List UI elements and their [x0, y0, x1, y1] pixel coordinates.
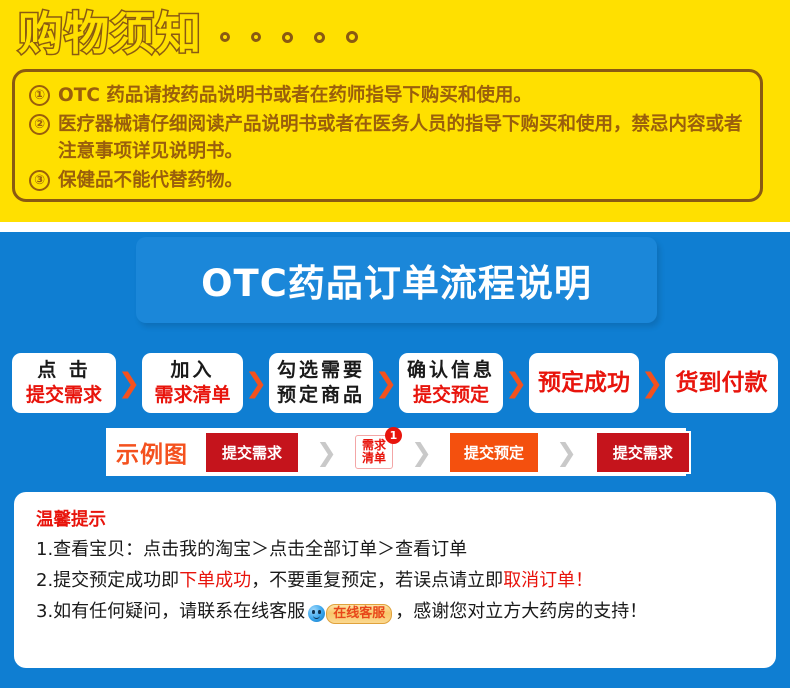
- flow-step-3[interactable]: 勾选需要 预定商品: [269, 353, 373, 413]
- notice-title-row: 购物须知: [18, 6, 358, 62]
- dot-icon-5: [346, 31, 358, 43]
- flow-step-1-line1: 点 击: [37, 358, 91, 383]
- tips-line-2-highlight-1: 下单成功: [179, 570, 251, 591]
- flow-arrow-icon-2: ❯: [243, 370, 269, 397]
- flow-step-5[interactable]: 预定成功: [529, 353, 639, 413]
- tips-line-3-part-a: 3.如有任何疑问，请联系在线客服: [36, 601, 305, 622]
- chevron-right-icon-2: ❯: [411, 440, 432, 465]
- flow-arrow-icon-1: ❯: [116, 370, 142, 397]
- smiley-eye-right-icon: [318, 610, 321, 614]
- example-submit-request-button[interactable]: 提交需求: [206, 433, 298, 472]
- notice-item: ① OTC 药品请按药品说明书或者在药师指导下购买和使用。: [29, 82, 746, 109]
- notice-list-box: ① OTC 药品请按药品说明书或者在药师指导下购买和使用。 ② 医疗器械请仔细阅…: [12, 69, 763, 202]
- tips-box: 温馨提示 1.查看宝贝：点击我的淘宝＞点击全部订单＞查看订单 2.提交预定成功即…: [14, 492, 776, 668]
- flow-step-4-line1: 确认信息: [407, 358, 495, 383]
- flow-title-box: OTC药品订单流程说明: [136, 237, 657, 323]
- tips-line-2-part-a: 2.提交预定成功即: [36, 570, 179, 591]
- flow-step-4-line2: 提交预定: [413, 383, 489, 408]
- promo-page: 购物须知 ① OTC 药品请按药品说明书或者在药师指导下购买和使用。 ② 医疗器…: [0, 0, 790, 688]
- example-submit-request-button-2[interactable]: 提交需求: [595, 431, 691, 474]
- notice-item-text: 医疗器械请仔细阅读产品说明书或者在医务人员的指导下购买和使用，禁忌内容或者注意事…: [58, 111, 746, 165]
- flow-step-6-line1: 货到付款: [676, 371, 768, 396]
- flow-step-5-line1: 预定成功: [538, 371, 630, 396]
- tips-line-2: 2.提交预定成功即下单成功，不要重复预定，若误点请立即取消订单！: [36, 565, 754, 596]
- chevron-right-icon-3: ❯: [556, 440, 577, 465]
- example-cart-line1: 需求: [362, 438, 386, 452]
- notice-number-badge: ③: [29, 170, 50, 191]
- dot-icon-2: [251, 32, 261, 42]
- cart-count-badge: 1: [385, 427, 402, 444]
- flow-step-3-line1: 勾选需要: [277, 358, 365, 383]
- example-cart-line2: 清单: [362, 451, 386, 465]
- flow-title: OTC药品订单流程说明: [201, 253, 592, 307]
- shopping-notice-section: 购物须知 ① OTC 药品请按药品说明书或者在药师指导下购买和使用。 ② 医疗器…: [0, 0, 790, 222]
- dot-icon-3: [282, 32, 293, 43]
- online-service-label: 在线客服: [326, 604, 392, 624]
- flow-step-2[interactable]: 加入 需求清单: [142, 353, 243, 413]
- flow-step-4[interactable]: 确认信息 提交预定: [399, 353, 503, 413]
- tips-line-3: 3.如有任何疑问，请联系在线客服 在线客服 ，感谢您对立方大药房的支持！: [36, 596, 754, 627]
- flow-step-3-line2: 预定商品: [277, 383, 365, 408]
- smiley-eye-left-icon: [312, 610, 315, 614]
- example-request-list-chip[interactable]: 需求 清单 1: [355, 435, 393, 469]
- flow-step-1[interactable]: 点 击 提交需求: [12, 353, 116, 413]
- smiley-face-icon: [308, 605, 325, 622]
- flow-step-2-line2: 需求清单: [154, 383, 230, 408]
- notice-item: ③ 保健品不能代替药物。: [29, 167, 746, 194]
- notice-item-text: OTC 药品请按药品说明书或者在药师指导下购买和使用。: [58, 82, 746, 109]
- tips-line-2-part-b: ，不要重复预定，若误点请立即: [251, 570, 503, 591]
- tips-line-1: 1.查看宝贝：点击我的淘宝＞点击全部订单＞查看订单: [36, 534, 754, 565]
- decorative-dots: [220, 31, 358, 43]
- dot-icon-4: [314, 32, 325, 43]
- notice-title: 购物须知: [18, 8, 202, 60]
- tips-heading: 温馨提示: [36, 509, 754, 531]
- tips-line-3-part-b: ，感谢您对立方大药房的支持！: [395, 601, 647, 622]
- example-submit-booking-button[interactable]: 提交预定: [450, 433, 538, 472]
- notice-number-badge: ②: [29, 114, 50, 135]
- order-flow-section: OTC药品订单流程说明 点 击 提交需求 ❯ 加入 需求清单 ❯ 勾选需要 预定…: [0, 232, 790, 688]
- flow-arrow-icon-5: ❯: [639, 370, 665, 397]
- notice-item: ② 医疗器械请仔细阅读产品说明书或者在医务人员的指导下购买和使用，禁忌内容或者注…: [29, 111, 746, 165]
- dot-icon-1: [220, 32, 230, 42]
- flow-arrow-icon-3: ❯: [373, 370, 399, 397]
- notice-item-text: 保健品不能代替药物。: [58, 167, 746, 194]
- flow-step-6[interactable]: 货到付款: [665, 353, 778, 413]
- online-service-badge[interactable]: 在线客服: [308, 604, 392, 624]
- smiley-mouth-icon: [313, 615, 320, 619]
- notice-number-badge: ①: [29, 85, 50, 106]
- example-diagram-strip: 示例图 提交需求 ❯ 需求 清单 1 ❯ 提交预定 ❯ 提交需求: [106, 428, 686, 476]
- flow-steps-row: 点 击 提交需求 ❯ 加入 需求清单 ❯ 勾选需要 预定商品 ❯ 确认信息 提交…: [12, 352, 778, 414]
- flow-step-1-line2: 提交需求: [26, 383, 102, 408]
- flow-arrow-icon-4: ❯: [503, 370, 529, 397]
- example-label: 示例图: [116, 435, 188, 469]
- flow-step-2-line1: 加入: [170, 358, 214, 383]
- tips-line-2-highlight-2: 取消订单！: [503, 570, 593, 591]
- chevron-right-icon-1: ❯: [316, 440, 337, 465]
